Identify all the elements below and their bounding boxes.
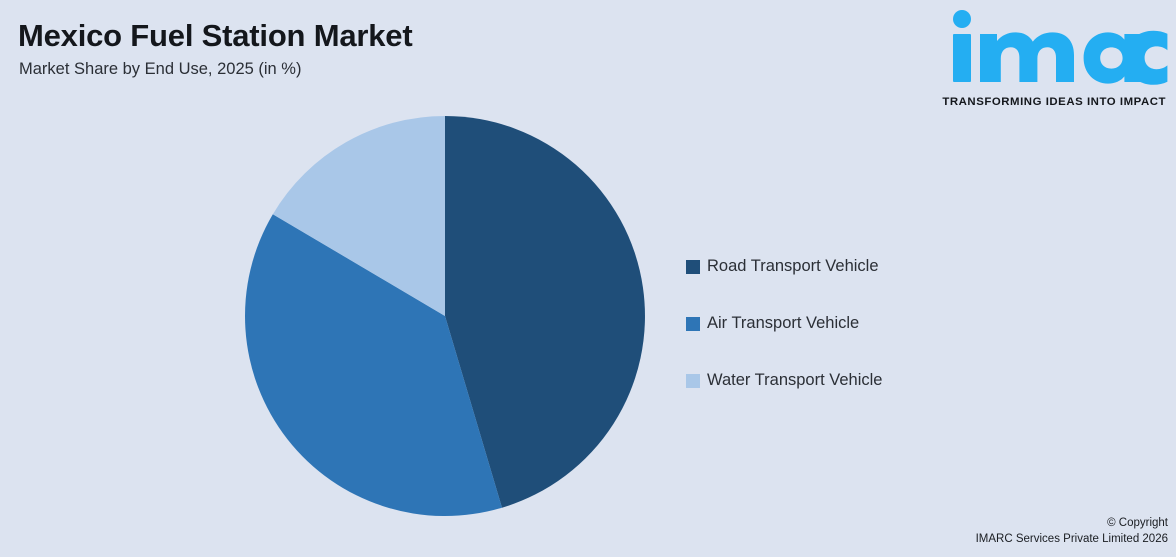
logo-tagline: TRANSFORMING IDEAS INTO IMPACT — [942, 96, 1166, 108]
legend-swatch-icon-0 — [686, 260, 700, 274]
legend-swatch-icon-1 — [686, 317, 700, 331]
legend-item-air-transport-vehicle[interactable]: Air Transport Vehicle — [686, 295, 1016, 352]
page-title: Mexico Fuel Station Market — [18, 18, 412, 54]
chart-canvas: Mexico Fuel Station Market Market Share … — [0, 0, 1176, 557]
copyright-footer: © Copyright IMARC Services Private Limit… — [976, 515, 1168, 548]
pie-chart-svg — [245, 116, 645, 516]
copyright-line-2: IMARC Services Private Limited 2026 — [976, 531, 1168, 548]
page-subtitle: Market Share by End Use, 2025 (in %) — [19, 60, 301, 79]
copyright-line-1: © Copyright — [976, 515, 1168, 532]
legend-label-0: Road Transport Vehicle — [707, 257, 879, 276]
legend-label-1: Air Transport Vehicle — [707, 314, 859, 333]
imarc-logo: TRANSFORMING IDEAS INTO IMPACT — [928, 8, 1168, 108]
legend-swatch-icon-2 — [686, 374, 700, 388]
imarc-wordmark-icon — [930, 8, 1168, 86]
legend-item-water-transport-vehicle[interactable]: Water Transport Vehicle — [686, 352, 1016, 409]
chart-legend: Road Transport Vehicle Air Transport Veh… — [686, 238, 1016, 409]
legend-item-road-transport-vehicle[interactable]: Road Transport Vehicle — [686, 238, 1016, 295]
pie-chart — [245, 116, 645, 516]
legend-label-2: Water Transport Vehicle — [707, 371, 882, 390]
